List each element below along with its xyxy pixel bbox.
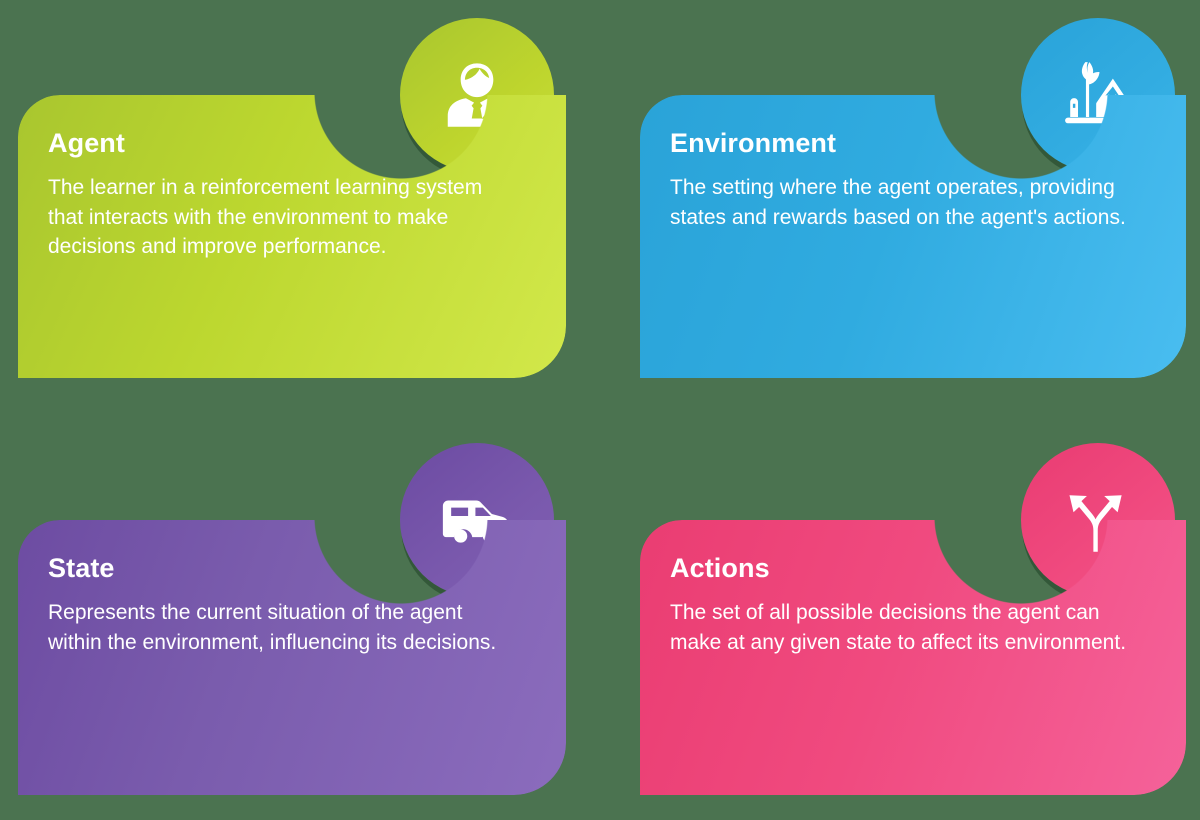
infographic-board: Agent The learner in a reinforcement lea… [0,0,1200,820]
card-body-actions: The set of all possible decisions the ag… [670,598,1140,658]
panel-state: State Represents the current situation o… [18,520,566,795]
panel-actions: Actions The set of all possible decision… [640,520,1186,795]
card-title-agent: Agent [48,129,520,159]
panel-agent: Agent The learner in a reinforcement lea… [18,95,566,378]
card-title-actions: Actions [670,554,1140,584]
card-body-environment: The setting where the agent operates, pr… [670,173,1140,233]
card-title-environment: Environment [670,129,1140,159]
card-body-agent: The learner in a reinforcement learning … [48,173,520,262]
card-body-state: Represents the current situation of the … [48,598,520,658]
card-title-state: State [48,554,520,584]
panel-environment: Environment The setting where the agent … [640,95,1186,378]
